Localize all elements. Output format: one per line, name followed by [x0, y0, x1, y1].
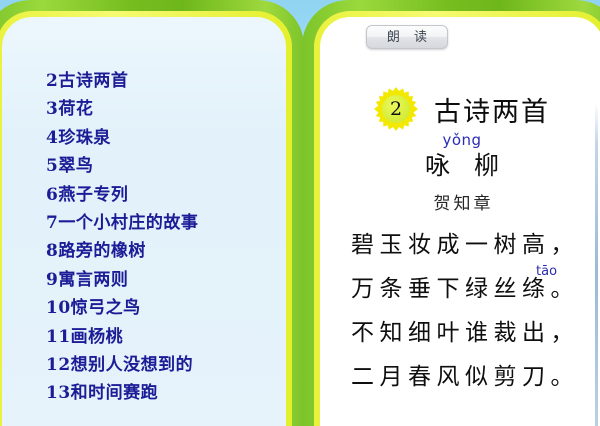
lesson-list-item[interactable]: 4珍珠泉: [46, 124, 280, 152]
lesson-list-item[interactable]: 6燕子专列: [46, 181, 280, 209]
poem-line-text: 不知细叶谁裁出，: [351, 320, 579, 346]
lesson-list-item[interactable]: 7一个小村庄的故事: [46, 209, 280, 237]
reading-panel: 朗 读 2 古诗两首 yǒng 咏 柳 贺知章 碧玉妆成一树高， t: [302, 0, 600, 426]
poem-line: 碧玉妆成一树高，: [340, 223, 590, 267]
contents-page: 2古诗两首 3荷花 4珍珠泉 5翠鸟 6燕子专列 7一个小村庄的故事 8路旁的橡…: [2, 17, 286, 426]
page-title: 古诗两首: [434, 90, 550, 129]
poem-line: tāo 万条垂下绿丝绦。: [340, 267, 590, 311]
lesson-list-item[interactable]: 13和时间赛跑: [46, 379, 280, 407]
contents-panel: 2古诗两首 3荷花 4珍珠泉 5翠鸟 6燕子专列 7一个小村庄的故事 8路旁的橡…: [0, 0, 304, 426]
poem-line-text: 万条垂下绿丝绦。: [351, 276, 579, 302]
lesson-list-item[interactable]: 12想别人没想到的: [46, 351, 280, 379]
lesson-list-item[interactable]: 3荷花: [46, 95, 280, 123]
lesson-list: 2古诗两首 3荷花 4珍珠泉 5翠鸟 6燕子专列 7一个小村庄的故事 8路旁的橡…: [46, 67, 280, 408]
lesson-title-row: 2 古诗两首: [320, 87, 600, 131]
lesson-list-item[interactable]: 9寓言两则: [46, 266, 280, 294]
sun-starburst-icon: 2: [374, 87, 418, 131]
poem-body: 碧玉妆成一树高， tāo 万条垂下绿丝绦。 不知细叶谁裁出， 二月春风似剪刀。: [340, 223, 590, 399]
reading-page: 朗 读 2 古诗两首 yǒng 咏 柳 贺知章 碧玉妆成一树高， t: [320, 17, 600, 426]
lesson-list-item[interactable]: 8路旁的橡树: [46, 237, 280, 265]
poem-title-block: yǒng 咏 柳: [320, 133, 600, 181]
poem-title: 咏 柳: [320, 151, 600, 181]
vertical-scrollbar[interactable]: [595, 103, 598, 426]
lesson-list-item[interactable]: 5翠鸟: [46, 152, 280, 180]
read-aloud-button[interactable]: 朗 读: [366, 25, 448, 49]
poem-title-pinyin: yǒng: [320, 133, 600, 148]
lesson-list-item[interactable]: 2古诗两首: [46, 67, 280, 95]
poem-line: 不知细叶谁裁出，: [340, 311, 590, 355]
lesson-number: 2: [374, 87, 418, 131]
poem-line-text: 二月春风似剪刀。: [351, 364, 579, 390]
poem-author: 贺知章: [320, 189, 600, 214]
lesson-list-item[interactable]: 11画杨桃: [46, 323, 280, 351]
poem-line-text: 碧玉妆成一树高，: [351, 232, 579, 258]
poem-ruby-pinyin: tāo: [536, 265, 557, 278]
poem-line: 二月春风似剪刀。: [340, 355, 590, 399]
lesson-viewer-screen: 2古诗两首 3荷花 4珍珠泉 5翠鸟 6燕子专列 7一个小村庄的故事 8路旁的橡…: [0, 0, 600, 426]
lesson-list-item[interactable]: 10惊弓之鸟: [46, 294, 280, 322]
